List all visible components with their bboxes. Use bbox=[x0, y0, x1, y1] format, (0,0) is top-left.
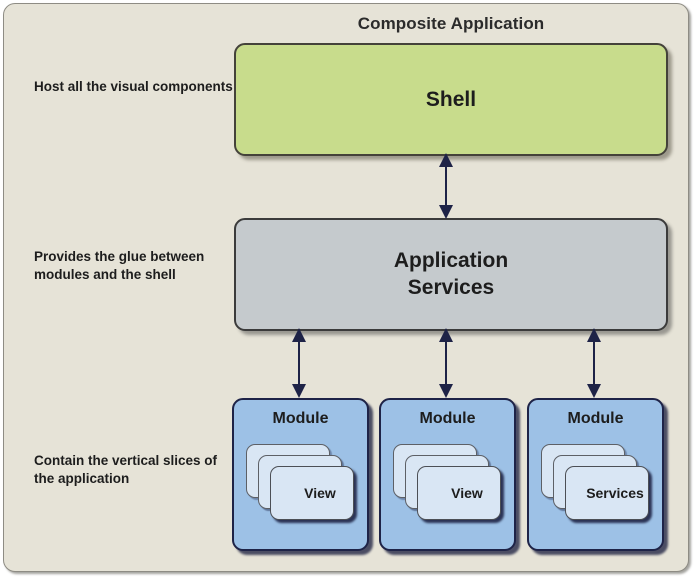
connector-services-to-module-2 bbox=[435, 328, 457, 403]
application-services-label-line1: Application bbox=[394, 248, 508, 275]
connector-services-to-module-1 bbox=[288, 328, 310, 403]
double-arrow-icon bbox=[583, 328, 605, 398]
double-arrow-icon bbox=[288, 328, 310, 398]
shell-box: Shell bbox=[234, 43, 668, 156]
application-services-label-line2: Services bbox=[394, 275, 508, 302]
application-services-box: Application Services bbox=[234, 218, 668, 331]
module-3-card-stack: Services bbox=[541, 444, 653, 536]
stacked-card-front: View bbox=[417, 466, 501, 520]
module-1-card-label: View bbox=[288, 485, 336, 501]
shell-box-label: Shell bbox=[426, 88, 476, 112]
composite-application-diagram: Composite Application Host all the visua… bbox=[0, 0, 697, 580]
module-box-2: Module View bbox=[379, 398, 516, 551]
stacked-card-front: View bbox=[270, 466, 354, 520]
connector-services-to-module-3 bbox=[583, 328, 605, 403]
application-services-box-label: Application Services bbox=[394, 248, 508, 302]
stacked-card-front: Services bbox=[565, 466, 649, 520]
module-2-card-label: View bbox=[435, 485, 483, 501]
connector-shell-to-services bbox=[435, 153, 457, 224]
module-box-1-label: Module bbox=[234, 410, 367, 428]
module-box-1: Module View bbox=[232, 398, 369, 551]
annotation-services: Provides the glue between modules and th… bbox=[34, 248, 234, 284]
module-1-card-stack: View bbox=[246, 444, 358, 536]
module-box-3-label: Module bbox=[529, 410, 662, 428]
annotation-shell: Host all the visual components bbox=[34, 78, 234, 96]
diagram-title: Composite Application bbox=[234, 14, 668, 34]
double-arrow-icon bbox=[435, 153, 457, 219]
module-box-2-label: Module bbox=[381, 410, 514, 428]
module-box-3: Module Services bbox=[527, 398, 664, 551]
double-arrow-icon bbox=[435, 328, 457, 398]
module-3-card-label: Services bbox=[570, 485, 644, 501]
annotation-modules: Contain the vertical slices of the appli… bbox=[34, 452, 234, 488]
module-2-card-stack: View bbox=[393, 444, 505, 536]
